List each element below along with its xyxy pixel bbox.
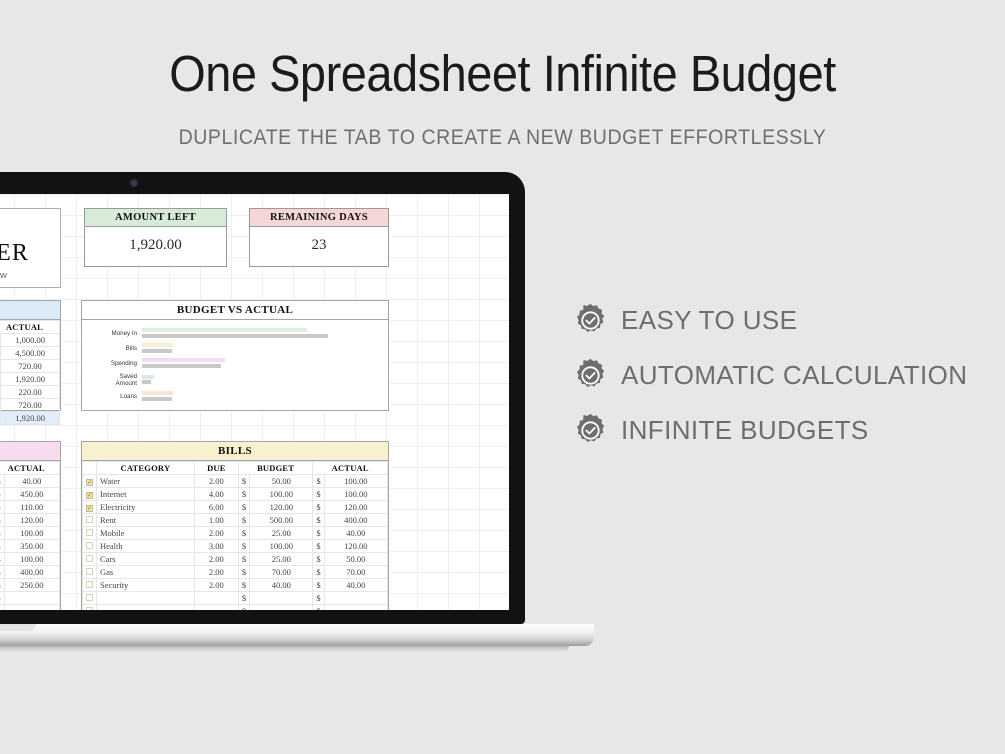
chart-bar-budget bbox=[142, 358, 225, 362]
feature-label: INFINITE BUDGETS bbox=[621, 415, 869, 446]
bill-checkbox[interactable] bbox=[83, 514, 97, 527]
chart-bar-budget bbox=[142, 391, 173, 395]
currency-symbol: $ bbox=[238, 553, 249, 566]
currency-symbol: $ bbox=[313, 553, 324, 566]
chart-bar-budget bbox=[142, 375, 154, 379]
row-actual: 100.00 bbox=[324, 475, 387, 488]
money-in-out-panel: MONEY IN & OUT BUDGETACTUAL.Start Balanc… bbox=[0, 300, 61, 411]
row-category bbox=[97, 605, 195, 611]
bill-checkbox[interactable] bbox=[83, 553, 97, 566]
currency-symbol: $ bbox=[313, 540, 324, 553]
table-row[interactable]: Education$400.00$350.00 bbox=[0, 540, 60, 553]
table-row[interactable]: Health3.00$100.00$120.00 bbox=[83, 540, 388, 553]
row-actual: 400.00 bbox=[324, 514, 387, 527]
laptop-mockup: o-Jun-25,000.00iness2.2%check4.4%ACTUAL,… bbox=[0, 172, 525, 652]
chart-bars bbox=[142, 328, 378, 339]
currency-symbol: $ bbox=[313, 501, 324, 514]
row-due bbox=[194, 592, 238, 605]
row-actual bbox=[4, 605, 59, 611]
row-category: Internet bbox=[97, 488, 195, 501]
table-row[interactable]: Household$100.00$120.00 bbox=[0, 514, 60, 527]
table-row[interactable]: Food$40.00$40.00 bbox=[0, 475, 60, 488]
owner-name: Sophie's bbox=[0, 214, 60, 238]
row-actual: 100.00 bbox=[324, 488, 387, 501]
currency-symbol: $ bbox=[313, 579, 324, 592]
sheet-subtitle: FINANCIAL OVERVIEW bbox=[0, 271, 60, 280]
table-row[interactable]: Saved Amoun$300.00$220.00 bbox=[0, 386, 60, 399]
chart-category-row: Money In bbox=[86, 328, 378, 339]
table-row[interactable]: Clothes$120.00$100.00 bbox=[0, 553, 60, 566]
row-actual: 70.00 bbox=[324, 566, 387, 579]
row-actual: 100.00 bbox=[4, 527, 59, 540]
table-row[interactable]: Spending$2,000.00$1,920.00 bbox=[0, 373, 60, 386]
laptop-screen: o-Jun-25,000.00iness2.2%check4.4%ACTUAL,… bbox=[0, 194, 509, 610]
table-row[interactable]: ✓Electricity6.00$120.00$120.00 bbox=[83, 501, 388, 514]
row-actual: 400.00 bbox=[4, 566, 59, 579]
row-due: 1.00 bbox=[194, 514, 238, 527]
currency-symbol: $ bbox=[238, 501, 249, 514]
col-actual: ACTUAL bbox=[0, 462, 60, 475]
table-row[interactable]: Bills$760.00$720.00 bbox=[0, 360, 60, 373]
bill-checkbox[interactable] bbox=[83, 579, 97, 592]
currency-symbol: $ bbox=[238, 592, 249, 605]
bills-title: BILLS bbox=[82, 442, 388, 461]
row-actual: 40.00 bbox=[324, 579, 387, 592]
row-actual bbox=[324, 605, 387, 611]
feature-item: AUTOMATIC CALCULATION bbox=[573, 358, 967, 393]
row-budget: 500.00 bbox=[250, 514, 313, 527]
table-row[interactable]: Mobile2.00$25.00$40.00 bbox=[83, 527, 388, 540]
chart-bars bbox=[142, 391, 378, 402]
feature-label: AUTOMATIC CALCULATION bbox=[621, 360, 967, 391]
currency-symbol: $ bbox=[313, 605, 324, 611]
row-actual: 250.00 bbox=[4, 579, 59, 592]
chart-category-label: Money In bbox=[86, 330, 142, 337]
table-row[interactable]: Entertainmen$400.00$400.00 bbox=[0, 566, 60, 579]
row-budget: 50.00 bbox=[250, 475, 313, 488]
row-actual: 120.00 bbox=[4, 514, 59, 527]
table-row[interactable]: Miscellaneous$200.00$250.00 bbox=[0, 579, 60, 592]
row-actual: 4,500.00 bbox=[1, 347, 60, 360]
kpi-label: AMOUNT LEFT bbox=[85, 209, 226, 227]
table-row[interactable]: Rent1.00$500.00$400.00 bbox=[83, 514, 388, 527]
row-due: 2.00 bbox=[194, 553, 238, 566]
table-row[interactable]: ✓Internet4.00$100.00$100.00 bbox=[83, 488, 388, 501]
month-name: NOVEMBER bbox=[0, 240, 60, 267]
bill-checkbox[interactable]: ✓ bbox=[83, 501, 97, 514]
sheet-title-block: Sophie's NOVEMBER FINANCIAL OVERVIEW bbox=[0, 208, 61, 288]
row-due: 4.00 bbox=[194, 488, 238, 501]
check-badge-icon bbox=[573, 303, 608, 338]
chart-bar-actual bbox=[142, 364, 221, 368]
row-due: 2.00 bbox=[194, 475, 238, 488]
chart-bar-actual bbox=[142, 380, 151, 384]
spending-panel: SPENDING CATEGORYBUDGETACTUALFood$40.00$… bbox=[0, 441, 61, 610]
total-actual: 1,920.00 bbox=[1, 412, 60, 425]
table-row[interactable]: Security2.00$40.00$40.00 bbox=[83, 579, 388, 592]
col-check bbox=[83, 462, 97, 475]
feature-item: EASY TO USE bbox=[573, 303, 967, 338]
bills-table[interactable]: CATEGORYDUEBUDGETACTUAL✓Water2.00$50.00$… bbox=[82, 461, 388, 610]
laptop-base-front bbox=[0, 646, 569, 652]
row-category: Health bbox=[97, 540, 195, 553]
row-due: 2.00 bbox=[194, 579, 238, 592]
col-actual: ACTUAL bbox=[313, 462, 388, 475]
row-actual: 50.00 bbox=[324, 553, 387, 566]
chart-bars bbox=[142, 358, 378, 369]
currency-symbol: $ bbox=[313, 566, 324, 579]
row-due: 2.00 bbox=[194, 527, 238, 540]
row-actual bbox=[4, 592, 59, 605]
webcam-icon bbox=[131, 180, 137, 186]
bar-chart: Money InBillsSpendingSavedAmountLoans bbox=[82, 320, 388, 414]
row-category: Mobile bbox=[97, 527, 195, 540]
table-row[interactable]: Transport$120.00$110.00 bbox=[0, 501, 60, 514]
kpi-value: 23 bbox=[250, 227, 388, 266]
chart-bar-actual bbox=[142, 397, 172, 401]
row-actual: 40.00 bbox=[4, 475, 59, 488]
currency-symbol: $ bbox=[313, 592, 324, 605]
money-in-out-table[interactable]: BUDGETACTUAL.Start Balance$1,000.00$1,00… bbox=[0, 320, 60, 425]
currency-symbol: $ bbox=[238, 566, 249, 579]
table-row[interactable]: .Start Balance$1,000.00$1,000.00 bbox=[0, 334, 60, 347]
row-category: Rent bbox=[97, 514, 195, 527]
table-header-row: BUDGETACTUAL bbox=[0, 321, 60, 334]
table-row[interactable]: $$ bbox=[83, 605, 388, 611]
chart-title: BUDGET VS ACTUAL bbox=[82, 301, 388, 320]
row-due: 6.00 bbox=[194, 501, 238, 514]
row-due: 2.00 bbox=[194, 566, 238, 579]
row-actual: 120.00 bbox=[324, 501, 387, 514]
row-category: Cars bbox=[97, 553, 195, 566]
table-row[interactable]: $$ bbox=[83, 592, 388, 605]
chart-category-row: Loans bbox=[86, 391, 378, 402]
row-budget: 40.00 bbox=[250, 579, 313, 592]
chart-category-label: Spending bbox=[86, 360, 142, 367]
row-actual: 720.00 bbox=[1, 360, 60, 373]
row-budget: 100.00 bbox=[250, 540, 313, 553]
promo-graphic: One Spreadsheet Infinite Budget DUPLICAT… bbox=[0, 0, 1005, 754]
feature-item: INFINITE BUDGETS bbox=[573, 413, 967, 448]
bill-checkbox[interactable] bbox=[83, 540, 97, 553]
row-actual: 220.00 bbox=[1, 386, 60, 399]
table-row[interactable]: Gas2.00$70.00$70.00 bbox=[83, 566, 388, 579]
row-actual: 1,920.00 bbox=[1, 373, 60, 386]
currency-symbol: $ bbox=[238, 605, 249, 611]
row-category bbox=[97, 592, 195, 605]
spreadsheet[interactable]: o-Jun-25,000.00iness2.2%check4.4%ACTUAL,… bbox=[0, 194, 509, 610]
row-actual: 100.00 bbox=[4, 553, 59, 566]
chart-bars bbox=[142, 375, 378, 386]
row-actual: 350.00 bbox=[4, 540, 59, 553]
chart-category-row: Spending bbox=[86, 358, 378, 369]
row-category: Electricity bbox=[97, 501, 195, 514]
currency-symbol: $ bbox=[238, 514, 249, 527]
row-budget bbox=[250, 592, 313, 605]
table-row[interactable]: Loans$760.00$720.00 bbox=[0, 399, 60, 412]
spending-table[interactable]: CATEGORYBUDGETACTUALFood$40.00$40.00Stud… bbox=[0, 461, 60, 610]
row-budget: 25.00 bbox=[250, 553, 313, 566]
chart-category-label: SavedAmount bbox=[86, 373, 142, 387]
currency-symbol: $ bbox=[313, 488, 324, 501]
bill-checkbox[interactable]: ✓ bbox=[83, 475, 97, 488]
table-row[interactable]: $$ bbox=[0, 592, 60, 605]
budget-vs-actual-panel: BUDGET VS ACTUAL Money InBillsSpendingSa… bbox=[81, 300, 389, 411]
row-category: Security bbox=[97, 579, 195, 592]
spending-title: SPENDING bbox=[0, 442, 60, 461]
col-budget: BUDGET bbox=[238, 462, 313, 475]
row-actual: 450.00 bbox=[4, 488, 59, 501]
currency-symbol: $ bbox=[238, 527, 249, 540]
chart-bar-budget bbox=[142, 343, 173, 347]
table-row[interactable]: Health$120.00$100.00 bbox=[0, 527, 60, 540]
table-row[interactable]: Cars2.00$25.00$50.00 bbox=[83, 553, 388, 566]
kpi-remaining-days: REMAINING DAYS 23 bbox=[249, 208, 389, 267]
kpi-label: REMAINING DAYS bbox=[250, 209, 388, 227]
chart-category-label: Bills bbox=[86, 345, 142, 352]
row-budget: 100.00 bbox=[250, 488, 313, 501]
chart-bars bbox=[142, 343, 378, 354]
bill-checkbox[interactable] bbox=[83, 592, 97, 605]
currency-symbol: $ bbox=[313, 475, 324, 488]
row-actual: 720.00 bbox=[1, 399, 60, 412]
kpi-amount-left: AMOUNT LEFT 1,920.00 bbox=[84, 208, 227, 267]
laptop-bezel: o-Jun-25,000.00iness2.2%check4.4%ACTUAL,… bbox=[0, 172, 525, 624]
check-badge-icon bbox=[573, 358, 608, 393]
currency-symbol: $ bbox=[238, 540, 249, 553]
laptop-base bbox=[0, 624, 594, 646]
row-actual bbox=[324, 592, 387, 605]
row-category: Gas bbox=[97, 566, 195, 579]
currency-symbol: $ bbox=[313, 514, 324, 527]
chart-category-row: Bills bbox=[86, 343, 378, 354]
currency-symbol: $ bbox=[238, 475, 249, 488]
page-subtitle: DUPLICATE THE TAB TO CREATE A NEW BUDGET… bbox=[35, 126, 970, 150]
bill-checkbox[interactable]: ✓ bbox=[83, 488, 97, 501]
currency-symbol: $ bbox=[238, 488, 249, 501]
bills-panel: BILLS CATEGORYDUEBUDGETACTUAL✓Water2.00$… bbox=[81, 441, 389, 610]
bill-checkbox[interactable] bbox=[83, 566, 97, 579]
chart-category-label: Loans bbox=[86, 393, 142, 400]
table-header-row: CATEGORYDUEBUDGETACTUAL bbox=[83, 462, 388, 475]
chart-bar-actual bbox=[142, 334, 328, 338]
row-due: 3.00 bbox=[194, 540, 238, 553]
table-row[interactable]: $$ bbox=[0, 605, 60, 611]
check-badge-icon bbox=[573, 413, 608, 448]
row-actual: 120.00 bbox=[324, 540, 387, 553]
col-actual: ACTUAL bbox=[0, 321, 60, 334]
row-actual: 110.00 bbox=[4, 501, 59, 514]
table-header-row: CATEGORYBUDGETACTUAL bbox=[0, 462, 60, 475]
col-category: CATEGORY bbox=[97, 462, 195, 475]
chart-bar-actual bbox=[142, 349, 172, 353]
row-budget: 120.00 bbox=[250, 501, 313, 514]
kpi-value: 1,920.00 bbox=[85, 227, 226, 266]
row-actual: 1,000.00 bbox=[1, 334, 60, 347]
bill-checkbox[interactable] bbox=[83, 527, 97, 540]
row-budget: 70.00 bbox=[250, 566, 313, 579]
feature-list: EASY TO USE AUTOMATIC CALCULATION INFI bbox=[573, 303, 967, 448]
chart-bar-budget bbox=[142, 328, 307, 332]
row-budget: 25.00 bbox=[250, 527, 313, 540]
table-row[interactable]: Student Loan$500.00$450.00 bbox=[0, 488, 60, 501]
bill-checkbox[interactable] bbox=[83, 605, 97, 611]
row-actual: 40.00 bbox=[324, 527, 387, 540]
row-category: Water bbox=[97, 475, 195, 488]
money-in-out-title: MONEY IN & OUT bbox=[0, 301, 60, 320]
chart-category-row: SavedAmount bbox=[86, 373, 378, 387]
total-row: Left$1,180.00$1,920.00 bbox=[0, 412, 60, 425]
table-row[interactable]: .Money In$4,000.00$4,500.00 bbox=[0, 347, 60, 360]
page-title: One Spreadsheet Infinite Budget bbox=[40, 44, 965, 103]
feature-label: EASY TO USE bbox=[621, 305, 797, 336]
currency-symbol: $ bbox=[238, 579, 249, 592]
col-due: DUE bbox=[194, 462, 238, 475]
row-budget bbox=[250, 605, 313, 611]
table-row[interactable]: ✓Water2.00$50.00$100.00 bbox=[83, 475, 388, 488]
currency-symbol: $ bbox=[313, 527, 324, 540]
row-due bbox=[194, 605, 238, 611]
